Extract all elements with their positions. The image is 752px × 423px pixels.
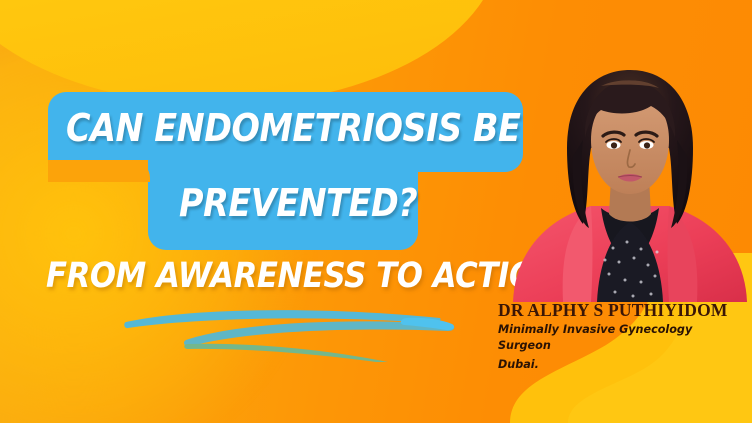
headline-line-2: PREVENTED?	[179, 181, 417, 225]
doctor-role-line1: Minimally Invasive Gynecology Surgeon	[498, 322, 748, 354]
headline-line-3: FROM AWARENESS TO ACTION!	[46, 256, 574, 296]
doctor-name: DR ALPHY S PUTHIYIDOM	[498, 300, 748, 320]
doctor-credit-block: DR ALPHY S PUTHIYIDOM Minimally Invasive…	[498, 300, 748, 373]
poster-canvas: CAN ENDOMETRIOSIS BE PREVENTED? FROM AWA…	[0, 0, 752, 423]
headline-line-1: CAN ENDOMETRIOSIS BE	[66, 106, 520, 150]
doctor-role-line2: Dubai.	[498, 357, 748, 373]
doctor-portrait	[505, 52, 752, 302]
